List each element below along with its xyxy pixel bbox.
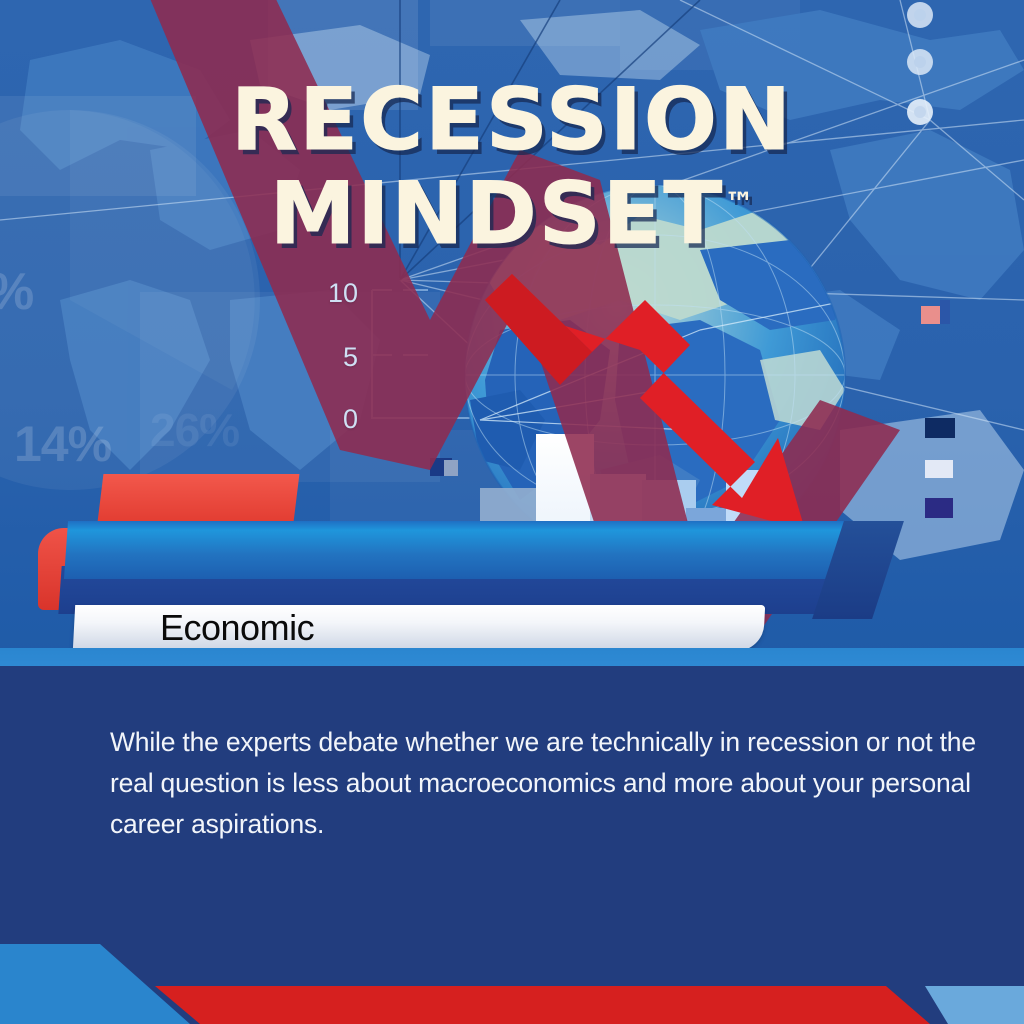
poster-canvas: % 14% 26% 10 5 0 RECESSION MINDSET™ Econ… [0,0,1024,1024]
axis-tick-10: 10 [328,278,358,309]
deco-red-band [155,986,930,1024]
accent-strip [0,648,1024,668]
pie-label-14: 14% [14,415,111,473]
ribbon-main-band [64,521,870,579]
category-label: Economic [160,607,314,649]
body-paragraph: While the experts debate whether we are … [110,722,976,845]
axis-tick-5: 5 [343,342,358,373]
bottom-decoration [0,900,1024,1024]
pie-label-percent: % [0,262,33,322]
axis-tick-0: 0 [343,404,358,435]
pie-label-26: 26% [150,403,239,457]
